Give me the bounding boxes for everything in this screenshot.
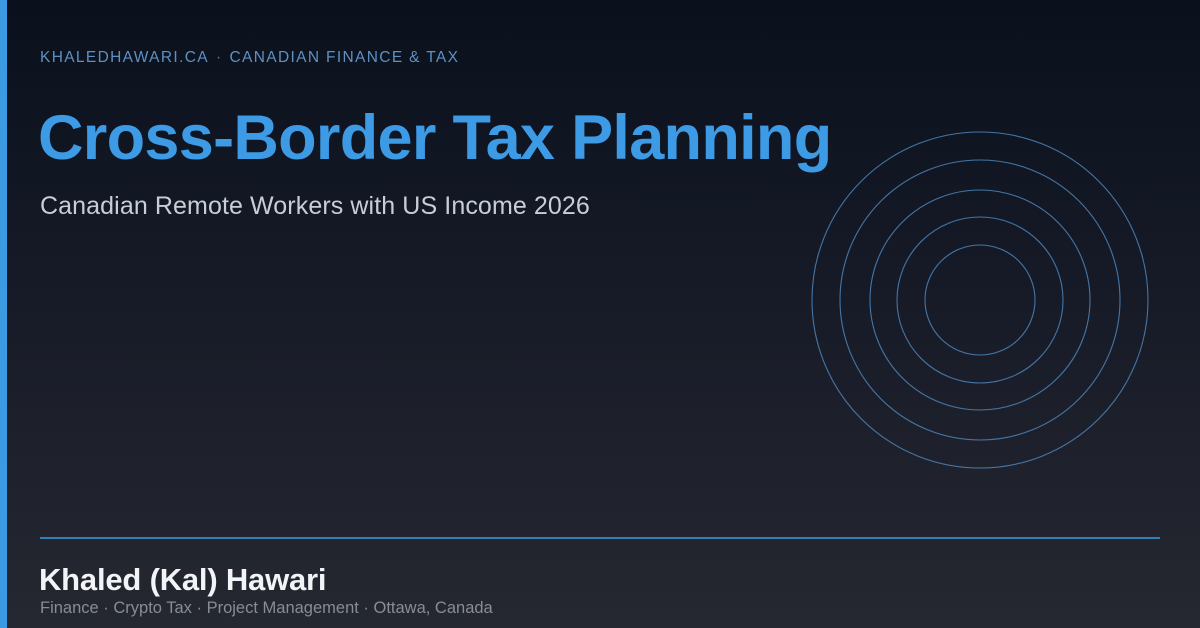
author-tagline: Finance · Crypto Tax · Project Managemen… <box>40 599 493 618</box>
page-subtitle: Canadian Remote Workers with US Income 2… <box>40 192 590 221</box>
author-name: Khaled (Kal) Hawari <box>39 562 326 598</box>
eyebrow-separator: · <box>209 49 230 66</box>
page-title: Cross-Border Tax Planning <box>38 104 831 172</box>
eyebrow-line: KHALEDHAWARI.CA·CANADIAN FINANCE & TAX <box>40 49 459 67</box>
social-share-card: KHALEDHAWARI.CA·CANADIAN FINANCE & TAX C… <box>0 0 1200 628</box>
footer-divider <box>40 537 1160 539</box>
card-content: KHALEDHAWARI.CA·CANADIAN FINANCE & TAX C… <box>0 0 1200 628</box>
eyebrow-category: CANADIAN FINANCE & TAX <box>229 49 459 66</box>
eyebrow-site: KHALEDHAWARI.CA <box>40 49 209 66</box>
